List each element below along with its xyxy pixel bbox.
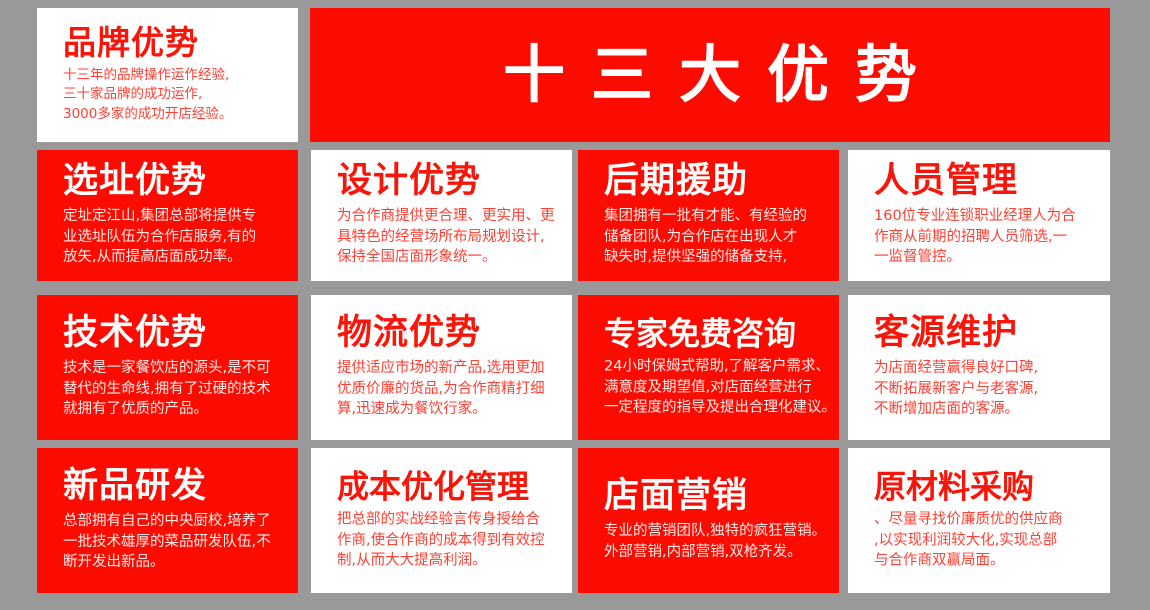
card-content: 技术优势 技术是一家餐饮店的源头,是不可 替代的生命线,拥有了过硬的技术 就拥有… [37, 315, 298, 419]
card-body-line: 与合作商双赢局面。 [874, 551, 1096, 572]
card-content: 品牌优势 十三年的品牌操作运作经验, 三十家品牌的成功运作, 3000多家的成功… [37, 26, 298, 124]
card-body: 为合作商提供更合理、更实用、更 具特色的经营场所布局规划设计, 保持全国店面形象… [337, 206, 558, 268]
poster-canvas: 品牌优势 十三年的品牌操作运作经验, 三十家品牌的成功运作, 3000多家的成功… [0, 0, 1150, 610]
card-title: 成本优化管理 [337, 470, 558, 503]
card-store-marketing[interactable]: 店面营销 专业的营销团队,独特的疯狂营销。 外部营销,内部营销,双枪齐发。 [578, 448, 839, 593]
card-title: 品牌优势 [63, 26, 284, 60]
card-body-line: 专业的营销团队,独特的疯狂营销。 [604, 521, 825, 542]
card-body: 24小时保姆式帮助,了解客户需求、 满意度及期望值,对店面经营进行 一定程度的指… [604, 356, 825, 418]
card-title: 后期援助 [604, 163, 825, 199]
card-title: 专家免费咨询 [604, 317, 825, 350]
card-body-line: 一批技术雄厚的菜品研发队伍,不 [63, 532, 284, 553]
card-content: 专家免费咨询 24小时保姆式帮助,了解客户需求、 满意度及期望值,对店面经营进行… [578, 317, 839, 418]
card-brand-advantage[interactable]: 品牌优势 十三年的品牌操作运作经验, 三十家品牌的成功运作, 3000多家的成功… [37, 8, 298, 142]
card-body-line: 、尽量寻找价廉质优的供应商 [874, 509, 1096, 530]
card-title: 店面营销 [604, 479, 825, 515]
card-body-line: 提供适应市场的新产品,选用更加 [337, 358, 558, 379]
card-body-line: 24小时保姆式帮助,了解客户需求、 [604, 356, 825, 377]
card-body-line: 不断增加店面的客源。 [874, 399, 1096, 420]
card-body-line: 就拥有了优质的产品。 [63, 399, 284, 420]
card-body-line: 三十家品牌的成功运作, [63, 85, 284, 104]
card-expert-free-consulting[interactable]: 专家免费咨询 24小时保姆式帮助,了解客户需求、 满意度及期望值,对店面经营进行… [578, 295, 839, 440]
card-technology-advantage[interactable]: 技术优势 技术是一家餐饮店的源头,是不可 替代的生命线,拥有了过硬的技术 就拥有… [37, 295, 298, 440]
card-body-line: 不断拓展新客户与老客源, [874, 379, 1096, 400]
card-body-line: 保持全国店面形象统一。 [337, 247, 558, 268]
card-body-line: 作商从前期的招聘人员筛选,一 [874, 227, 1096, 248]
card-body-line: 作商,使合作商的成本得到有效控 [337, 530, 558, 551]
card-body-line: 为合作商提供更合理、更实用、更 [337, 206, 558, 227]
card-body-line: 一监督管控。 [874, 247, 1096, 268]
card-body: 160位专业连锁职业经理人为合 作商从前期的招聘人员筛选,一 一监督管控。 [874, 206, 1096, 268]
card-body: 提供适应市场的新产品,选用更加 优质价廉的货品,为合作商精打细 算,迅速成为餐饮… [337, 358, 558, 420]
card-logistics-advantage[interactable]: 物流优势 提供适应市场的新产品,选用更加 优质价廉的货品,为合作商精打细 算,迅… [311, 295, 572, 440]
card-content: 人员管理 160位专业连锁职业经理人为合 作商从前期的招聘人员筛选,一 一监督管… [848, 163, 1110, 267]
card-title: 技术优势 [63, 315, 284, 351]
card-customer-retention[interactable]: 客源维护 为店面经营赢得良好口碑, 不断拓展新客户与老客源, 不断增加店面的客源… [848, 295, 1110, 440]
card-title: 新品研发 [63, 468, 284, 504]
hero-banner: 十三大优势 [310, 8, 1110, 142]
card-content: 新品研发 总部拥有自己的中央厨校,培养了 一批技术雄厚的菜品研发队伍,不 断开发… [37, 468, 298, 572]
card-design-advantage[interactable]: 设计优势 为合作商提供更合理、更实用、更 具特色的经营场所布局规划设计, 保持全… [311, 150, 572, 281]
card-content: 店面营销 专业的营销团队,独特的疯狂营销。 外部营销,内部营销,双枪齐发。 [578, 479, 839, 563]
card-body-line: 业选址队伍为合作店服务,有的 [63, 227, 284, 248]
card-body-line: 为店面经营赢得良好口碑, [874, 358, 1096, 379]
card-body-line: 替代的生命线,拥有了过硬的技术 [63, 379, 284, 400]
card-body: 为店面经营赢得良好口碑, 不断拓展新客户与老客源, 不断增加店面的客源。 [874, 358, 1096, 420]
card-raw-material-procurement[interactable]: 原材料采购 、尽量寻找价廉质优的供应商 ,以实现利润较大化,实现总部 与合作商双… [848, 448, 1110, 593]
card-content: 设计优势 为合作商提供更合理、更实用、更 具特色的经营场所布局规划设计, 保持全… [311, 163, 572, 267]
card-content: 物流优势 提供适应市场的新产品,选用更加 优质价廉的货品,为合作商精打细 算,迅… [311, 315, 572, 419]
card-content: 后期援助 集团拥有一批有才能、有经验的 储备团队,为合作店在出现人才 缺失时,提… [578, 163, 839, 267]
card-title: 设计优势 [337, 163, 558, 199]
card-new-product-development[interactable]: 新品研发 总部拥有自己的中央厨校,培养了 一批技术雄厚的菜品研发队伍,不 断开发… [37, 448, 298, 593]
card-body-line: 定址定江山,集团总部将提供专 [63, 206, 284, 227]
hero-title: 十三大优势 [477, 44, 943, 106]
card-site-selection-advantage[interactable]: 选址优势 定址定江山,集团总部将提供专 业选址队伍为合作店服务,有的 放矢,从而… [37, 150, 298, 281]
card-body: 十三年的品牌操作运作经验, 三十家品牌的成功运作, 3000多家的成功开店经验。 [63, 66, 284, 124]
card-body: 总部拥有自己的中央厨校,培养了 一批技术雄厚的菜品研发队伍,不 断开发出新品。 [63, 511, 284, 573]
card-later-stage-support[interactable]: 后期援助 集团拥有一批有才能、有经验的 储备团队,为合作店在出现人才 缺失时,提… [578, 150, 839, 281]
card-body: 、尽量寻找价廉质优的供应商 ,以实现利润较大化,实现总部 与合作商双赢局面。 [874, 509, 1096, 571]
card-body-line: 储备团队,为合作店在出现人才 [604, 227, 825, 248]
card-content: 原材料采购 、尽量寻找价廉质优的供应商 ,以实现利润较大化,实现总部 与合作商双… [848, 470, 1110, 571]
card-body: 把总部的实战经验言传身授给合 作商,使合作商的成本得到有效控 制,从而大大提高利… [337, 509, 558, 571]
card-body-line: 一定程度的指导及提出合理化建议。 [604, 398, 825, 419]
card-body-line: 具特色的经营场所布局规划设计, [337, 227, 558, 248]
card-body: 定址定江山,集团总部将提供专 业选址队伍为合作店服务,有的 放矢,从而提高店面成… [63, 206, 284, 268]
card-body-line: 十三年的品牌操作运作经验, [63, 66, 284, 85]
card-title: 物流优势 [337, 315, 558, 351]
card-body-line: ,以实现利润较大化,实现总部 [874, 530, 1096, 551]
card-body-line: 满意度及期望值,对店面经营进行 [604, 377, 825, 398]
card-body-line: 技术是一家餐饮店的源头,是不可 [63, 358, 284, 379]
card-body-line: 3000多家的成功开店经验。 [63, 105, 284, 124]
card-body-line: 断开发出新品。 [63, 552, 284, 573]
card-body-line: 放矢,从而提高店面成功率。 [63, 247, 284, 268]
card-body-line: 总部拥有自己的中央厨校,培养了 [63, 511, 284, 532]
card-body: 专业的营销团队,独特的疯狂营销。 外部营销,内部营销,双枪齐发。 [604, 521, 825, 562]
card-body-line: 把总部的实战经验言传身授给合 [337, 509, 558, 530]
card-content: 成本优化管理 把总部的实战经验言传身授给合 作商,使合作商的成本得到有效控 制,… [311, 470, 572, 571]
card-title: 原材料采购 [874, 470, 1096, 503]
card-content: 客源维护 为店面经营赢得良好口碑, 不断拓展新客户与老客源, 不断增加店面的客源… [848, 315, 1110, 419]
card-body-line: 集团拥有一批有才能、有经验的 [604, 206, 825, 227]
card-personnel-management[interactable]: 人员管理 160位专业连锁职业经理人为合 作商从前期的招聘人员筛选,一 一监督管… [848, 150, 1110, 281]
card-body: 技术是一家餐饮店的源头,是不可 替代的生命线,拥有了过硬的技术 就拥有了优质的产… [63, 358, 284, 420]
card-body: 集团拥有一批有才能、有经验的 储备团队,为合作店在出现人才 缺失时,提供坚强的储… [604, 206, 825, 268]
card-title: 选址优势 [63, 163, 284, 199]
card-title: 客源维护 [874, 315, 1096, 351]
card-title: 人员管理 [874, 163, 1096, 199]
card-body-line: 算,迅速成为餐饮行家。 [337, 399, 558, 420]
card-body-line: 缺失时,提供坚强的储备支持, [604, 247, 825, 268]
card-body-line: 优质价廉的货品,为合作商精打细 [337, 379, 558, 400]
card-body-line: 160位专业连锁职业经理人为合 [874, 206, 1096, 227]
card-cost-optimization-management[interactable]: 成本优化管理 把总部的实战经验言传身授给合 作商,使合作商的成本得到有效控 制,… [311, 448, 572, 593]
card-content: 选址优势 定址定江山,集团总部将提供专 业选址队伍为合作店服务,有的 放矢,从而… [37, 163, 298, 267]
card-body-line: 外部营销,内部营销,双枪齐发。 [604, 542, 825, 563]
card-body-line: 制,从而大大提高利润。 [337, 551, 558, 572]
